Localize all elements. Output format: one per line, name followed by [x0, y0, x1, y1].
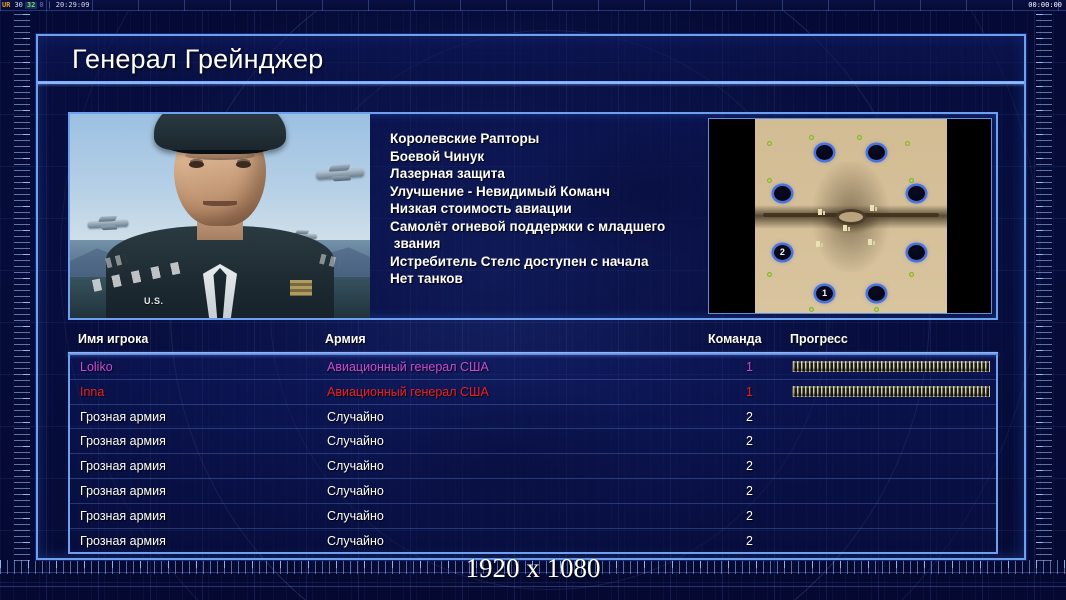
- oil-derrick-icon: [843, 225, 847, 231]
- cell-player-name: Inna: [80, 384, 104, 400]
- table-row[interactable]: LolikoАвиационный генерал США1: [70, 355, 996, 380]
- minimap-preview[interactable]: 21: [708, 118, 992, 314]
- minimap-center-crater: [836, 209, 866, 225]
- ability-item: Нет танков: [390, 270, 704, 288]
- cell-team: 2: [746, 433, 753, 449]
- title-underline-glow: [38, 82, 1024, 87]
- cell-player-name: Грозная армия: [80, 533, 166, 549]
- general-ribbon-rack: [290, 280, 312, 296]
- table-row[interactable]: Грозная армияСлучайно2: [70, 405, 996, 430]
- ability-item: Боевой Чинук: [390, 148, 704, 166]
- general-info-panel: U.S. Королевские Рапторы Боевой Чинук Ла…: [68, 112, 998, 320]
- cell-team: 2: [746, 508, 753, 524]
- title-bar: Генерал Грейнджер: [38, 36, 1024, 84]
- cell-player-name: Loliko: [80, 359, 113, 375]
- cell-team: 2: [746, 409, 753, 425]
- progress-bar: [792, 386, 990, 397]
- general-mouth: [203, 201, 237, 206]
- general-figure: U.S.: [70, 114, 370, 318]
- cell-player-name: Грозная армия: [80, 508, 166, 524]
- table-row[interactable]: Грозная армияСлучайно2: [70, 429, 996, 454]
- supply-dock-icon: [809, 135, 814, 140]
- resolution-overlay-text: 1920 x 1080: [0, 552, 1066, 584]
- oil-derrick-icon: [868, 239, 872, 245]
- oil-derrick-icon: [818, 209, 822, 215]
- start-position-marker[interactable]: [774, 186, 791, 201]
- cell-army: Случайно: [327, 533, 384, 549]
- cell-army: Случайно: [327, 433, 384, 449]
- oil-derrick-icon: [816, 241, 820, 247]
- supply-dock-icon: [909, 178, 914, 183]
- hud-right-clock: 00:00:00: [1028, 1, 1062, 9]
- supply-dock-icon: [767, 272, 772, 277]
- bottom-divider-line: [0, 586, 1066, 587]
- player-table-body: LolikoАвиационный генерал США1InnaАвиаци…: [68, 355, 998, 554]
- cell-player-name: Грозная армия: [80, 409, 166, 425]
- start-position-marker[interactable]: 1: [816, 286, 833, 301]
- cell-army: Случайно: [327, 483, 384, 499]
- cell-team: 1: [746, 359, 753, 375]
- cell-army: Случайно: [327, 458, 384, 474]
- general-eye-left: [189, 161, 204, 168]
- start-position-marker[interactable]: 2: [774, 245, 791, 260]
- general-abilities-list: Королевские Рапторы Боевой Чинук Лазерна…: [370, 114, 704, 318]
- ability-item: звания: [390, 235, 704, 253]
- minimap-terrain: 21: [755, 119, 947, 314]
- progress-bar: [792, 361, 990, 372]
- ability-item: Низкая стоимость авиации: [390, 200, 704, 218]
- supply-dock-icon: [905, 141, 910, 146]
- ability-item: Улучшение - Невидимый Команч: [390, 183, 704, 201]
- cell-player-name: Грозная армия: [80, 458, 166, 474]
- supply-dock-icon: [767, 178, 772, 183]
- page-title: Генерал Грейнджер: [72, 44, 323, 74]
- supply-dock-icon: [874, 307, 879, 312]
- table-row[interactable]: Грозная армияСлучайно2: [70, 529, 996, 554]
- table-row[interactable]: Грозная армияСлучайно2: [70, 504, 996, 529]
- cell-team: 1: [746, 384, 753, 400]
- cell-player-name: Грозная армия: [80, 433, 166, 449]
- ability-item: Истребитель Стелс доступен с начала: [390, 253, 704, 271]
- minimap-container[interactable]: 21: [704, 114, 996, 318]
- ability-item: Королевские Рапторы: [390, 130, 704, 148]
- cell-army: Случайно: [327, 508, 384, 524]
- supply-dock-icon: [809, 307, 814, 312]
- left-ruler-decoration: [14, 14, 30, 562]
- supply-dock-icon: [767, 141, 772, 146]
- column-header-team: Команда: [708, 332, 762, 346]
- column-header-player-name: Имя игрока: [78, 332, 148, 346]
- cell-army: Авиационный генерал США: [327, 384, 489, 400]
- ability-item: Лазерная защита: [390, 165, 704, 183]
- hud-top-bar: UR 30 32 0 | 20:29:09 00:00:00: [0, 0, 1066, 11]
- player-table-header: Имя игрока Армия Команда Прогресс: [68, 332, 998, 352]
- cell-army: Случайно: [327, 409, 384, 425]
- start-position-marker[interactable]: [908, 245, 925, 260]
- hud-tick-marks: [0, 0, 1066, 11]
- cell-player-name: Грозная армия: [80, 483, 166, 499]
- cell-team: 2: [746, 458, 753, 474]
- general-eye-right: [236, 161, 251, 168]
- general-portrait: U.S.: [70, 114, 370, 318]
- start-position-marker[interactable]: [816, 145, 833, 160]
- game-lobby-screen: UR 30 32 0 | 20:29:09 00:00:00 Генерал Г…: [0, 0, 1066, 600]
- start-position-marker[interactable]: [868, 286, 885, 301]
- start-position-marker[interactable]: [868, 145, 885, 160]
- supply-dock-icon: [909, 272, 914, 277]
- column-header-army: Армия: [325, 332, 366, 346]
- general-cap: [154, 114, 286, 150]
- right-ruler-decoration: [1036, 14, 1052, 562]
- oil-derrick-icon: [870, 205, 874, 211]
- cell-team: 2: [746, 483, 753, 499]
- ability-item: Самолёт огневой поддержки с младшего: [390, 218, 704, 236]
- main-panel-frame: Генерал Грейнджер: [36, 34, 1026, 560]
- table-row[interactable]: Грозная армияСлучайно2: [70, 479, 996, 504]
- column-header-progress: Прогресс: [790, 332, 848, 346]
- supply-dock-icon: [857, 135, 862, 140]
- cell-team: 2: [746, 533, 753, 549]
- start-position-marker[interactable]: [908, 186, 925, 201]
- table-row[interactable]: InnaАвиационный генерал США1: [70, 380, 996, 405]
- general-us-insignia: U.S.: [144, 296, 164, 306]
- table-row[interactable]: Грозная армияСлучайно2: [70, 454, 996, 479]
- cell-army: Авиационный генерал США: [327, 359, 489, 375]
